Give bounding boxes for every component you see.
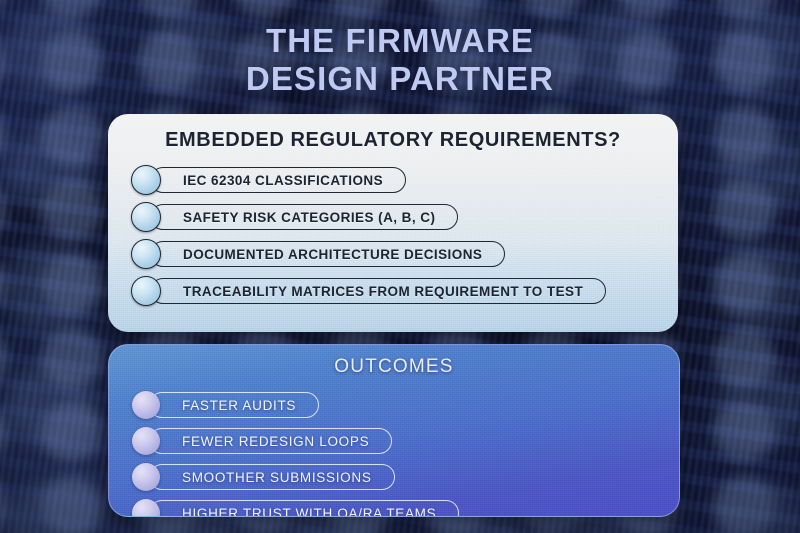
list-item-label: DOCUMENTED ARCHITECTURE DECISIONS (150, 241, 505, 267)
card-bottom-item-list: FASTER AUDITS FEWER REDESIGN LOOPS SMOOT… (109, 391, 679, 517)
list-item-label: HIGHER TRUST WITH QA/RA TEAMS (149, 500, 459, 517)
card-top-item-list: IEC 62304 CLASSIFICATIONS SAFETY RISK CA… (108, 166, 678, 305)
bullet-circle-icon (131, 276, 161, 306)
list-item[interactable]: DOCUMENTED ARCHITECTURE DECISIONS (131, 240, 678, 268)
list-item[interactable]: SAFETY RISK CATEGORIES (A, B, C) (131, 203, 678, 231)
bullet-circle-icon (131, 165, 161, 195)
bullet-circle-icon (131, 202, 161, 232)
bullet-circle-icon (131, 239, 161, 269)
list-item-label: FEWER REDESIGN LOOPS (149, 428, 392, 454)
page-title-line-2: DESIGN PARTNER (0, 60, 800, 98)
card-top-heading: EMBEDDED REGULATORY REQUIREMENTS? (164, 128, 622, 153)
bullet-circle-icon (132, 463, 160, 491)
list-item-label: SMOOTHER SUBMISSIONS (149, 464, 395, 490)
list-item-label: TRACEABILITY MATRICES FROM REQUIREMENT T… (150, 278, 606, 304)
list-item[interactable]: HIGHER TRUST WITH QA/RA TEAMS (132, 499, 679, 517)
bullet-circle-icon (132, 427, 160, 455)
list-item[interactable]: SMOOTHER SUBMISSIONS (132, 463, 679, 491)
list-item-label: SAFETY RISK CATEGORIES (A, B, C) (150, 204, 458, 230)
list-item[interactable]: FEWER REDESIGN LOOPS (132, 427, 679, 455)
card-embedded-regulatory-requirements: EMBEDDED REGULATORY REQUIREMENTS? IEC 62… (108, 114, 678, 332)
bullet-circle-icon (132, 391, 160, 419)
page-title: THE FIRMWARE DESIGN PARTNER (0, 22, 800, 98)
page-title-line-1: THE FIRMWARE (266, 22, 534, 59)
list-item[interactable]: FASTER AUDITS (132, 391, 679, 419)
card-bottom-heading: OUTCOMES (109, 355, 679, 378)
list-item[interactable]: TRACEABILITY MATRICES FROM REQUIREMENT T… (131, 277, 678, 305)
list-item-label: IEC 62304 CLASSIFICATIONS (150, 167, 406, 193)
list-item[interactable]: IEC 62304 CLASSIFICATIONS (131, 166, 678, 194)
list-item-label: FASTER AUDITS (149, 392, 319, 418)
card-outcomes: OUTCOMES FASTER AUDITS FEWER REDESIGN LO… (108, 344, 680, 517)
